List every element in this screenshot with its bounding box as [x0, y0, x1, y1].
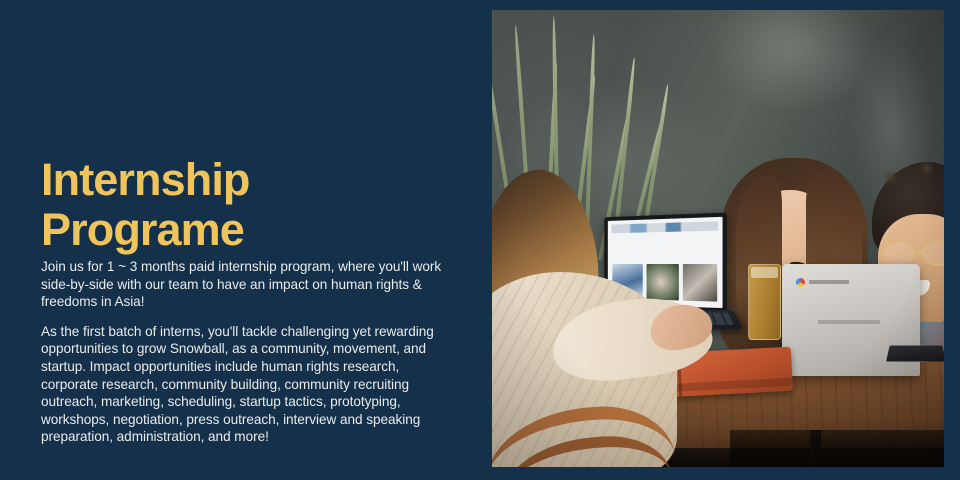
photo-content — [492, 10, 944, 467]
beverage-glass — [748, 264, 781, 340]
chromebook-wordmark — [809, 280, 849, 284]
body-copy: Join us for 1 ~ 3 months paid internship… — [41, 258, 457, 446]
intro-paragraph: Join us for 1 ~ 3 months paid internship… — [41, 258, 457, 311]
foreground-shadow — [730, 430, 944, 467]
webpage-header — [611, 221, 718, 233]
team-photo — [492, 10, 944, 467]
chrome-logo-icon — [796, 278, 805, 287]
title-line-1: Internship — [41, 155, 461, 205]
chromebook-keyboard — [886, 345, 944, 361]
details-paragraph: As the first batch of interns, you'll ta… — [41, 323, 457, 446]
text-pane: Internship Programe Join us for 1 ~ 3 mo… — [41, 0, 461, 480]
chromebook-brand-text — [818, 320, 880, 324]
title-line-2: Programe — [41, 205, 461, 255]
eyeglasses-icon — [882, 240, 944, 266]
page-title: Internship Programe — [41, 155, 461, 255]
promo-slide: Internship Programe Join us for 1 ~ 3 mo… — [0, 0, 960, 480]
